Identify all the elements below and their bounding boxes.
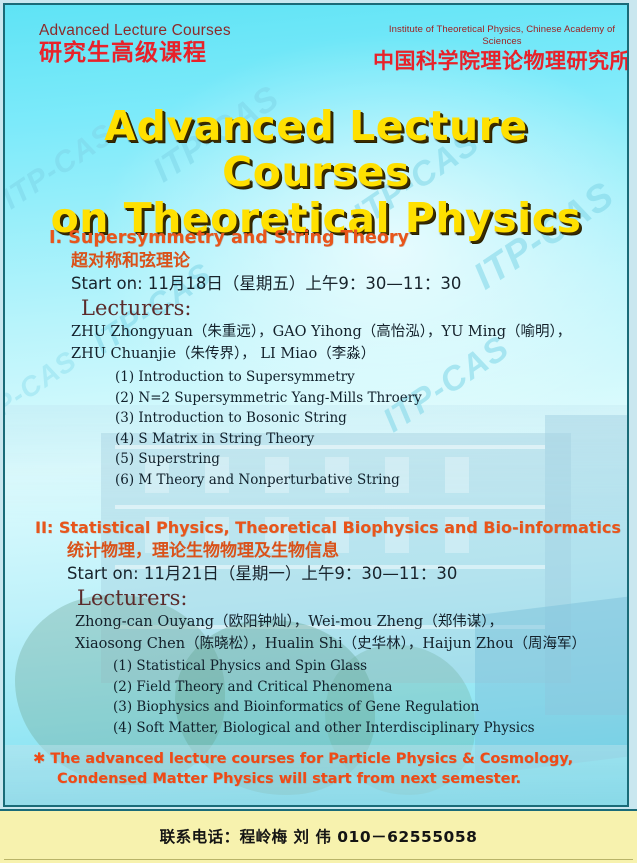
header-left-chinese: 研究生高级课程 <box>39 40 231 67</box>
section-supersymmetry-string-theory: I. Supersymmetry and String Theory 超对称和弦… <box>5 227 627 490</box>
section-2-start-label: Start on: <box>67 564 139 583</box>
section-2-lecturer-line: Zhong-can Ouyang（欧阳钟灿），Wei-mou Zheng（郑伟谋… <box>75 611 627 633</box>
section-1-lecturers-label: Lecturers: <box>81 295 627 321</box>
section-1-start-value: 11月18日（星期五）上午9：30—11：30 <box>148 274 461 293</box>
upcoming-courses-note: ✱ The advanced lecture courses for Parti… <box>5 749 627 789</box>
section-2-topic-item: (3) Biophysics and Bioinformatics of Gen… <box>113 697 627 718</box>
section-1-topic-list: (1) Introduction to Supersymmetry (2) N=… <box>115 367 627 490</box>
section-2-heading-english: II: Statistical Physics, Theoretical Bio… <box>35 517 627 539</box>
note-line-1: ✱ The advanced lecture courses for Parti… <box>33 749 627 769</box>
section-2-start-value: 11月21日（星期一）上午9：30—11：30 <box>144 564 457 583</box>
section-2-lecturers-label: Lecturers: <box>77 585 627 611</box>
poster: ITP-CAS ITP-CAS ITP-CAS ITP-CAS ITP-CAS … <box>0 0 637 863</box>
contact-text: 联系电话：程岭梅 刘 伟 010－62555058 <box>0 825 637 847</box>
section-1-topic-item: (3) Introduction to Bosonic String <box>115 408 627 429</box>
photo-floor-line-2 <box>115 505 545 509</box>
section-1-start-line: Start on: 11月18日（星期五）上午9：30—11：30 <box>71 273 627 295</box>
section-1-topic-item: (1) Introduction to Supersymmetry <box>115 367 627 388</box>
section-2-start-line: Start on: 11月21日（星期一）上午9：30—11：30 <box>67 563 627 585</box>
header-left-block: Advanced Lecture Courses 研究生高级课程 <box>39 22 231 67</box>
section-2-topic-list: (1) Statistical Physics and Spin Glass (… <box>113 656 627 738</box>
section-1-topic-item: (4) S Matrix in String Theory <box>115 429 627 450</box>
footer-rule <box>4 859 633 860</box>
contact-footer: 联系电话：程岭梅 刘 伟 010－62555058 <box>0 809 637 863</box>
section-1-topic-item: (2) N=2 Supersymmetric Yang-Mills Throer… <box>115 388 627 409</box>
header-left-english: Advanced Lecture Courses <box>39 22 231 40</box>
section-2-topic-item: (1) Statistical Physics and Spin Glass <box>113 656 627 677</box>
poster-title: Advanced Lecture Courses on Theoretical … <box>5 103 627 241</box>
section-1-start-label: Start on: <box>71 274 143 293</box>
section-1-lecturer-line: ZHU Chuanjie（朱传界）， LI Miao（李淼） <box>71 343 627 365</box>
section-2-heading-chinese: 统计物理，理论生物物理及生物信息 <box>67 539 627 563</box>
institute-name-english: Institute of Theoretical Physics, Chines… <box>373 24 629 48</box>
header-right-block: Institute of Theoretical Physics, Chines… <box>373 24 629 74</box>
section-2-topic-item: (2) Field Theory and Critical Phenomena <box>113 677 627 698</box>
institute-name-chinese: 中国科学院理论物理研究所 <box>373 48 629 74</box>
section-1-lecturer-line: ZHU Zhongyuan（朱重远），GAO Yihong（高怡泓），YU Mi… <box>71 321 627 343</box>
section-1-heading-english: I. Supersymmetry and String Theory <box>49 227 627 249</box>
section-2-topic-item: (4) Soft Matter, Biological and other In… <box>113 718 627 739</box>
poster-title-line1: Advanced Lecture Courses <box>5 103 627 195</box>
section-1-topic-item: (6) M Theory and Nonperturbative String <box>115 470 627 491</box>
section-2-lecturer-line: Xiaosong Chen（陈晓松），Hualin Shi（史华林），Haiju… <box>75 633 627 655</box>
poster-frame: ITP-CAS ITP-CAS ITP-CAS ITP-CAS ITP-CAS … <box>3 3 629 807</box>
section-1-topic-item: (5) Superstring <box>115 449 627 470</box>
section-1-heading-chinese: 超对称和弦理论 <box>71 249 627 273</box>
note-line-2: Condensed Matter Physics will start from… <box>57 769 627 789</box>
section-statistical-physics-biophysics: II: Statistical Physics, Theoretical Bio… <box>5 517 627 738</box>
poster-header: Advanced Lecture Courses 研究生高级课程 Institu… <box>5 5 627 85</box>
